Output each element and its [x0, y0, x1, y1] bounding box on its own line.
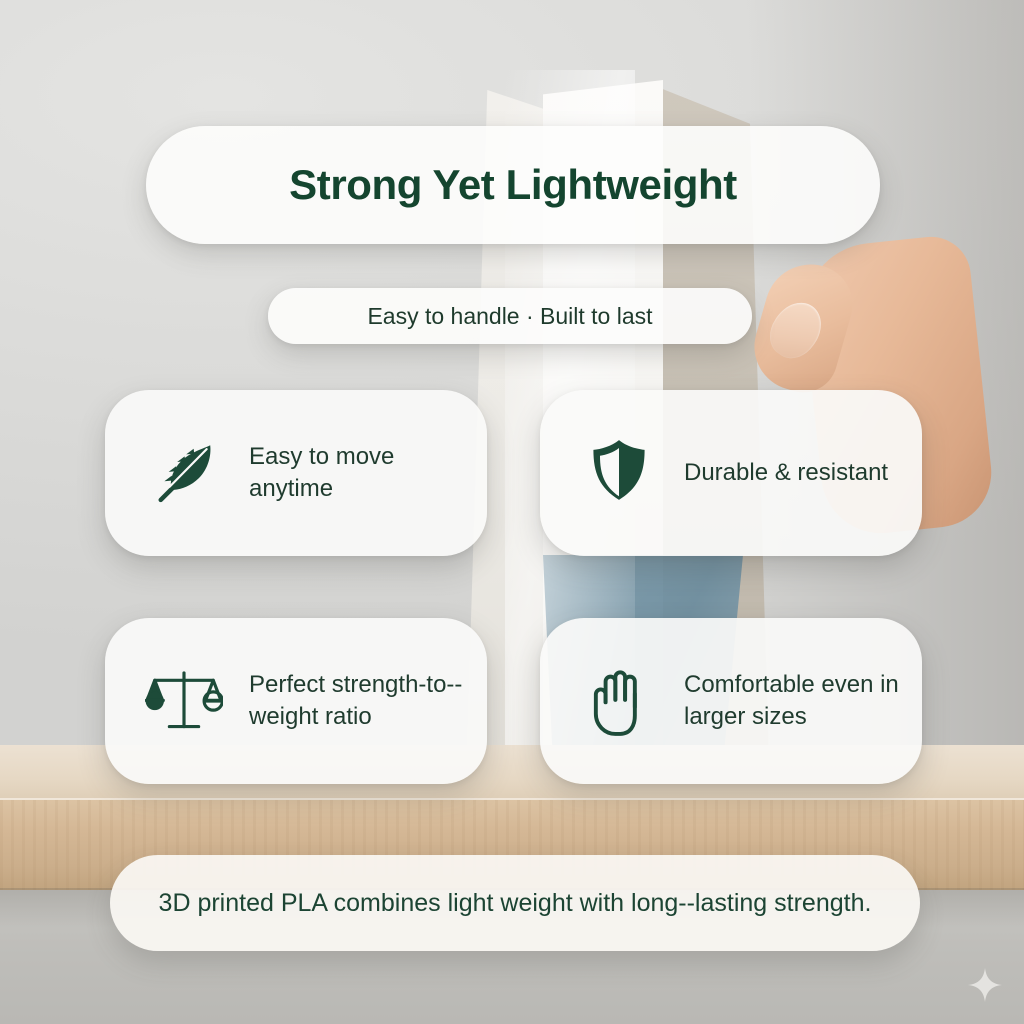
footer-pill: 3D printed PLA combines light weight wit… [110, 855, 920, 951]
feature-card-durable[interactable]: Durable & resistant [540, 390, 922, 556]
hand-icon [580, 662, 658, 740]
feature-label: Durable & resistant [684, 457, 888, 489]
feature-grid: Easy to move anytime Durable & resistant [105, 390, 925, 784]
page-title: Strong Yet Lightweight [289, 161, 737, 209]
subtitle-pill: Easy to handle · Built to last [268, 288, 752, 344]
title-pill: Strong Yet Lightweight [146, 126, 880, 244]
sparkle-icon [968, 968, 1002, 1002]
thumb-nail [761, 293, 832, 367]
shield-icon [580, 434, 658, 512]
balance-scale-icon [145, 662, 223, 740]
feather-icon [145, 434, 223, 512]
feature-card-easy-to-move[interactable]: Easy to move anytime [105, 390, 487, 556]
feature-label: Comfortable even in larger sizes [684, 669, 900, 732]
feature-card-strength-to-weight[interactable]: Perfect strength-to--weight ratio [105, 618, 487, 784]
footer-caption: 3D printed PLA combines light weight wit… [115, 886, 916, 920]
feature-label: Easy to move anytime [249, 441, 465, 504]
promo-graphic: Strong Yet Lightweight Easy to handle · … [0, 0, 1024, 1024]
feature-label: Perfect strength-to--weight ratio [249, 669, 465, 732]
feature-card-comfortable[interactable]: Comfortable even in larger sizes [540, 618, 922, 784]
page-subtitle: Easy to handle · Built to last [367, 303, 652, 330]
